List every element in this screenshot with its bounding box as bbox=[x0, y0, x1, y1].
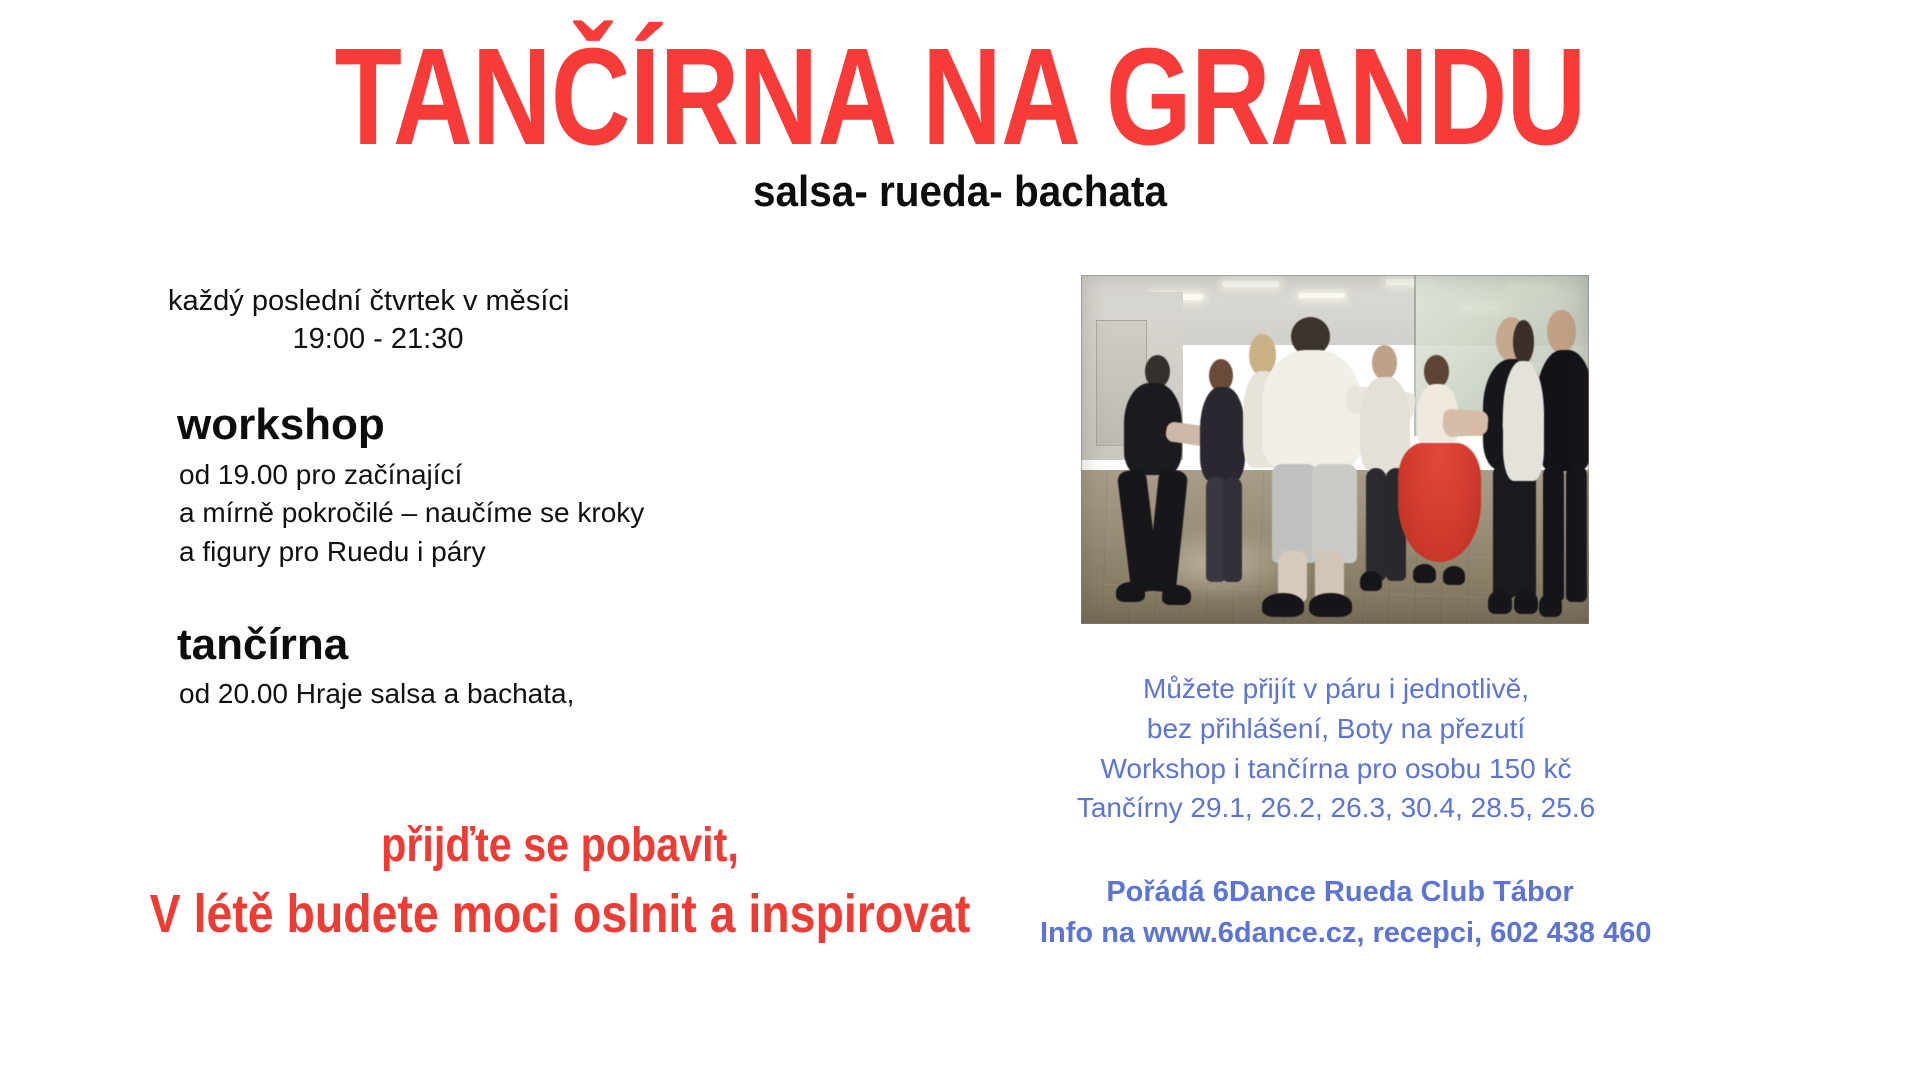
callout-line-2: V létě budete moci oslnit a inspirovat bbox=[130, 883, 990, 947]
info-line-2: bez přihlášení, Boty na přezutí bbox=[1056, 709, 1616, 749]
schedule-time: 19:00 - 21:30 bbox=[168, 321, 588, 359]
left-details-column: každý poslední čtvrtek v měsíci 19:00 - … bbox=[168, 283, 808, 713]
workshop-line-3: a figury pro Ruedu i páry bbox=[179, 533, 808, 572]
schedule-frequency: každý poslední čtvrtek v měsíci bbox=[168, 283, 808, 321]
organizer-contact-line[interactable]: Info na www.6dance.cz, recepci, 602 438 … bbox=[1040, 913, 1640, 954]
dance-photo-scene bbox=[1081, 275, 1589, 624]
callout-line-1: přijďte se pobavit, bbox=[130, 818, 990, 875]
workshop-line-2: a mírně pokročilé – naučíme se kroky bbox=[179, 494, 808, 533]
workshop-block: workshop od 19.00 pro začínající a mírně… bbox=[168, 400, 808, 571]
workshop-heading: workshop bbox=[177, 400, 808, 449]
info-line-3: Workshop i tančírna pro osobu 150 kč bbox=[1056, 749, 1616, 789]
organizer-line-1: Pořádá 6Dance Rueda Club Tábor bbox=[1040, 872, 1640, 913]
tancirna-line-1: od 20.00 Hraje salsa a bachata, bbox=[179, 675, 808, 714]
poster-canvas: TANČÍRNA NA GRANDU salsa- rueda- bachata… bbox=[0, 0, 1920, 1080]
info-line-4: Tančírny 29.1, 26.2, 26.3, 30.4, 28.5, 2… bbox=[1056, 788, 1616, 828]
page-subtitle: salsa- rueda- bachata bbox=[77, 170, 1843, 214]
workshop-line-1: od 19.00 pro začínající bbox=[179, 456, 808, 495]
callout-block: přijďte se pobavit, V létě budete moci o… bbox=[60, 818, 1060, 946]
dance-photo bbox=[1081, 275, 1589, 624]
info-line-1: Můžete přijít v páru i jednotlivě, bbox=[1056, 669, 1616, 709]
page-title: TANČÍRNA NA GRANDU bbox=[192, 28, 1728, 166]
tancirna-heading: tančírna bbox=[177, 620, 808, 669]
tancirna-block: tančírna od 20.00 Hraje salsa a bachata, bbox=[168, 620, 808, 714]
organizer-block: Pořádá 6Dance Rueda Club Tábor Info na w… bbox=[1040, 872, 1640, 954]
info-block: Můžete přijít v páru i jednotlivě, bez p… bbox=[1056, 669, 1616, 828]
photo-border bbox=[1081, 275, 1589, 624]
